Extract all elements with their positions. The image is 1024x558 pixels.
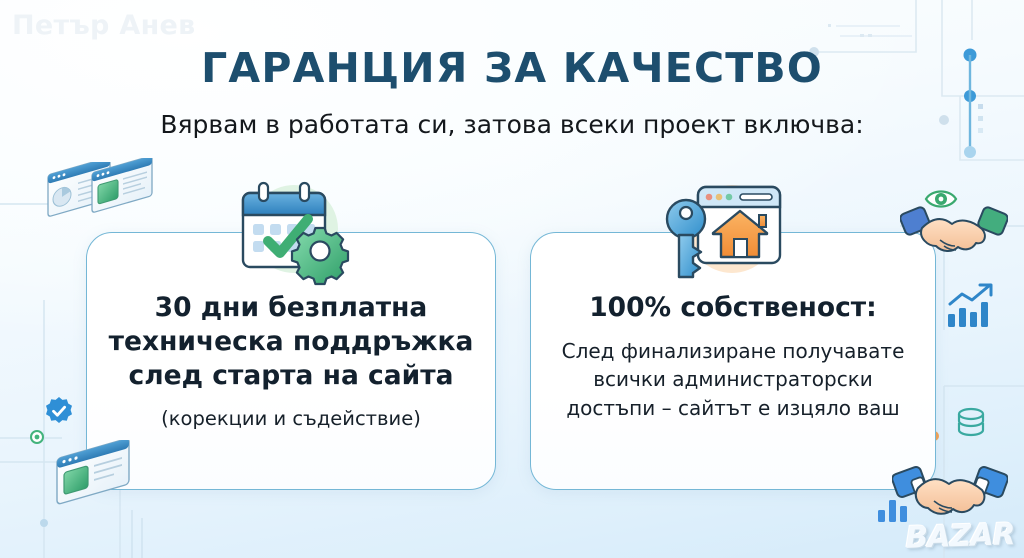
page-title: ГАРАНЦИЯ ЗА КАЧЕСТВО <box>0 44 1024 92</box>
guarantee-card-support: 30 дни безплатна техническа поддръжка сл… <box>86 232 496 490</box>
page-subtitle: Вярвам в работата си, затова всеки проек… <box>0 110 1024 139</box>
card-content: 100% собственост: След финализиране полу… <box>531 291 935 422</box>
calendar-check-gear-icon <box>216 171 366 297</box>
card-body-line: всички администраторски <box>549 365 917 393</box>
card-content: 30 дни безплатна техническа поддръжка сл… <box>87 291 495 430</box>
card-heading-line: техническа поддръжка <box>105 325 477 359</box>
card-heading-line: 30 дни безплатна <box>105 291 477 325</box>
eye-icon <box>924 186 958 212</box>
browser-window-isometric-icon <box>88 158 160 218</box>
poster-canvas: Петър Анев BAZAR ГАРАНЦИЯ ЗА КАЧЕСТВО Вя… <box>0 0 1024 558</box>
key-browser-house-icon <box>658 171 808 297</box>
card-body-line: След финализиране получавате <box>549 337 917 365</box>
database-icon <box>954 406 988 440</box>
growth-chart-icon <box>944 282 996 330</box>
watermark-bazar-logo: BAZAR <box>903 514 1016 558</box>
card-heading: 30 дни безплатна техническа поддръжка сл… <box>105 291 477 393</box>
card-heading: 100% собственост: <box>549 291 917 325</box>
watermark-author: Петър Анев <box>12 10 196 41</box>
browser-window-isometric-icon <box>44 162 118 224</box>
node-dot-icon <box>30 430 44 444</box>
card-heading-line: след старта на сайта <box>105 359 477 393</box>
card-body-line: достъпи – сайтът е изцяло ваш <box>549 394 917 422</box>
guarantee-card-ownership: 100% собственост: След финализиране полу… <box>530 232 936 490</box>
card-body-text: След финализиране получавате всички адми… <box>549 337 917 422</box>
verified-badge-icon <box>44 396 74 426</box>
card-note: (корекции и съдействие) <box>105 407 477 430</box>
